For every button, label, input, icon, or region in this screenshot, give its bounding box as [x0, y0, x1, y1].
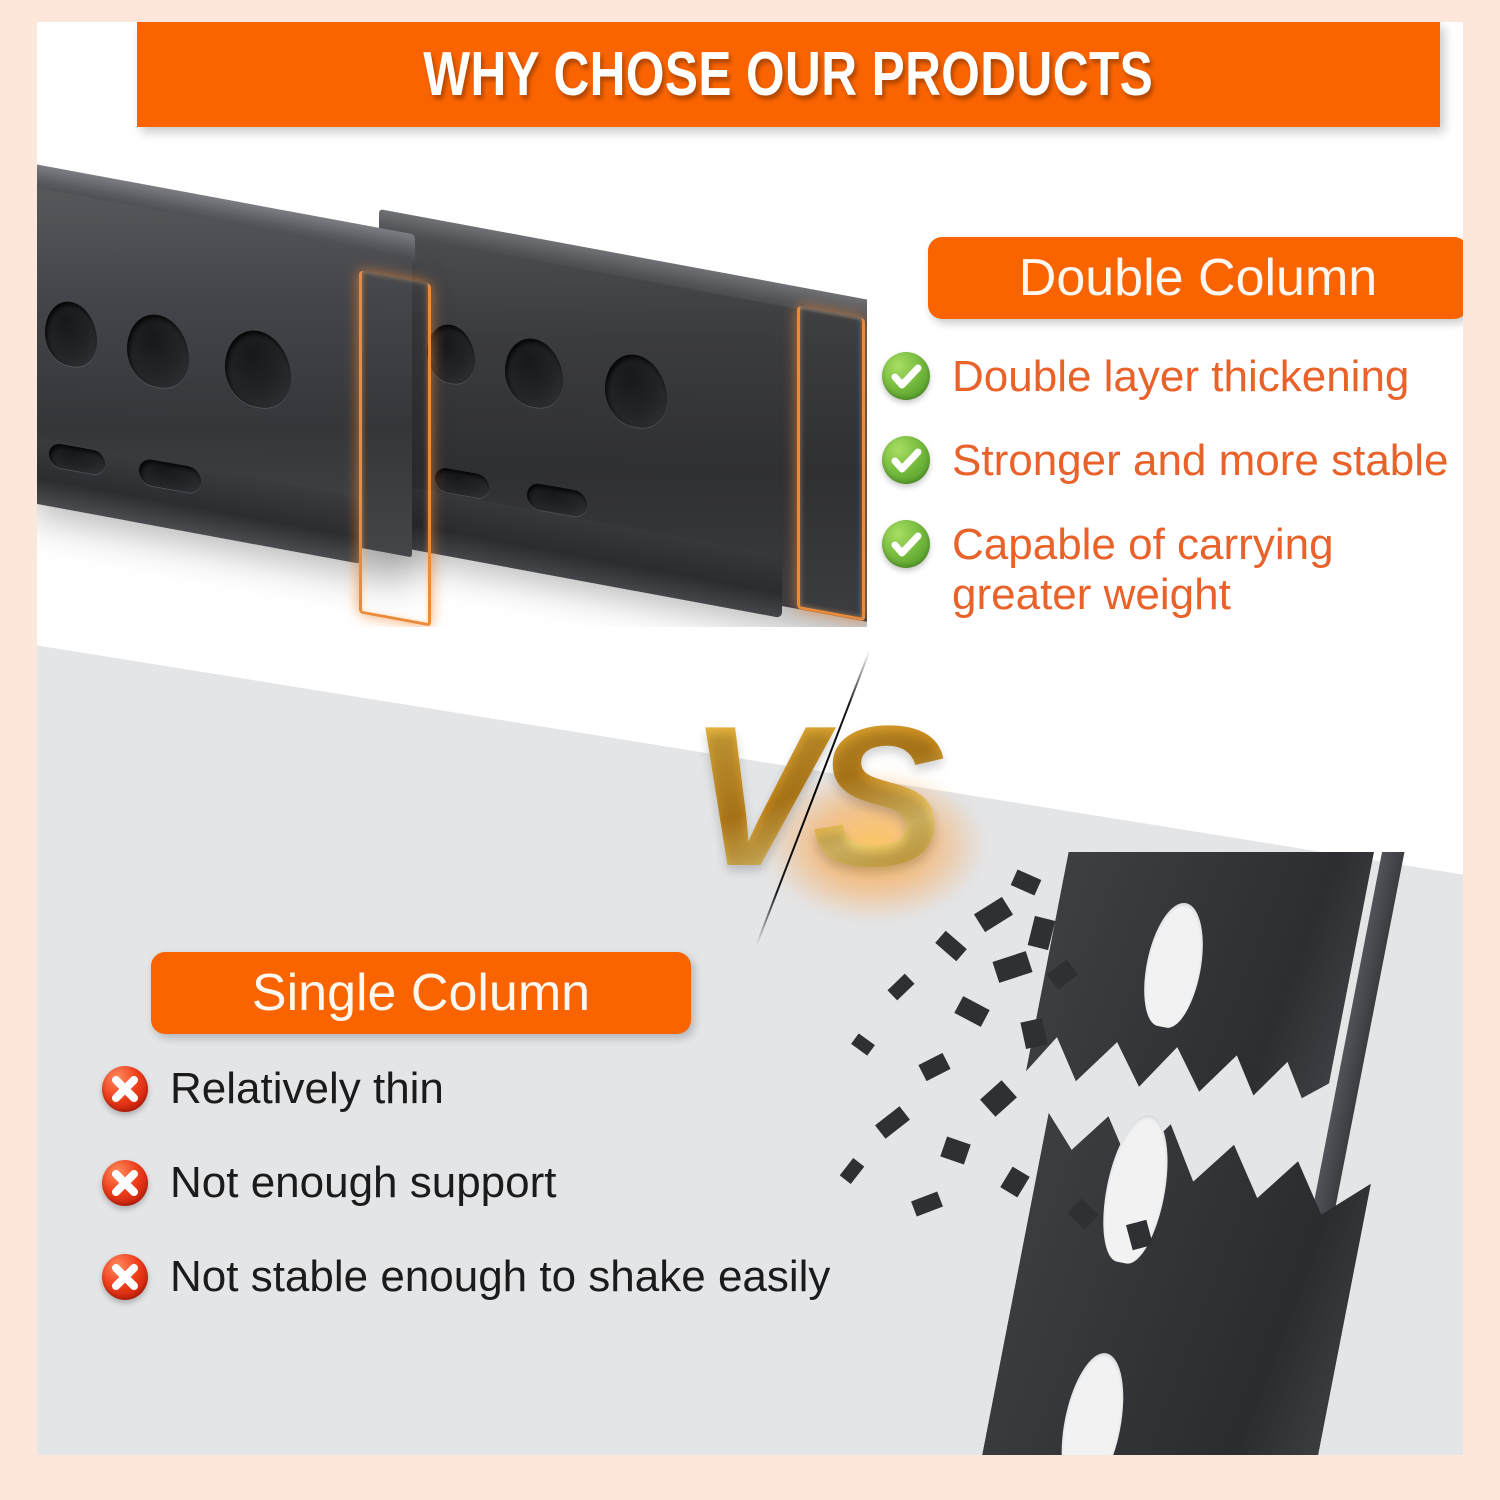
double-column-rails-photo: [37, 127, 867, 627]
list-item: Not stable enough to shake easily: [102, 1252, 922, 1302]
cons-item-label: Relatively thin: [170, 1064, 444, 1114]
header-banner: WHY CHOSE OUR PRODUCTS: [137, 22, 1440, 127]
debris-shard: [1000, 1167, 1030, 1198]
front-rail-copper-edge-highlight: [359, 270, 431, 626]
cross-circle-icon: [102, 1066, 148, 1112]
list-item: Capable of carrying greater weight: [882, 520, 1463, 620]
check-circle-icon: [882, 352, 930, 400]
double-column-badge-label: Double Column: [1019, 248, 1377, 308]
pros-item-label: Double layer thickening: [952, 352, 1409, 402]
back-rail-copper-edge-highlight: [797, 306, 865, 622]
page-frame: VS WHY CHOSE OUR PRODUCTS Double Column …: [0, 0, 1500, 1500]
debris-shard: [980, 1080, 1017, 1116]
cross-circle-icon: [102, 1254, 148, 1300]
single-column-badge: Single Column: [151, 952, 691, 1034]
debris-shard: [851, 1033, 875, 1055]
debris-shard: [935, 931, 967, 961]
debris-shard: [992, 951, 1032, 983]
cons-item-label: Not stable enough to shake easily: [170, 1252, 830, 1302]
debris-shard: [918, 1053, 950, 1081]
check-circle-icon: [882, 436, 930, 484]
debris-shard: [940, 1137, 970, 1165]
list-item: Stronger and more stable: [882, 436, 1463, 486]
double-column-badge: Double Column: [928, 237, 1463, 319]
vs-emblem: VS: [652, 662, 972, 932]
vs-label: VS: [652, 662, 972, 932]
check-circle-icon: [882, 520, 930, 568]
cross-circle-icon: [102, 1160, 148, 1206]
page-title: WHY CHOSE OUR PRODUCTS: [424, 39, 1154, 110]
list-item: Relatively thin: [102, 1064, 922, 1114]
pros-list: Double layer thickening Stronger and mor…: [882, 352, 1463, 654]
pros-item-label: Stronger and more stable: [952, 436, 1449, 486]
list-item: Double layer thickening: [882, 352, 1463, 402]
single-column-badge-label: Single Column: [252, 963, 590, 1023]
list-item: Not enough support: [102, 1158, 922, 1208]
cons-list: Relatively thin Not enough support Not s…: [102, 1064, 922, 1346]
cons-item-label: Not enough support: [170, 1158, 557, 1208]
column-upper-fragment: [1018, 852, 1375, 1168]
debris-shard: [954, 996, 989, 1027]
debris-shard: [888, 974, 915, 1001]
infographic-card: VS WHY CHOSE OUR PRODUCTS Double Column …: [37, 22, 1463, 1455]
pros-item-label: Capable of carrying greater weight: [952, 520, 1382, 620]
debris-shard: [1011, 869, 1042, 895]
column-lower-fragment: [977, 1089, 1377, 1455]
